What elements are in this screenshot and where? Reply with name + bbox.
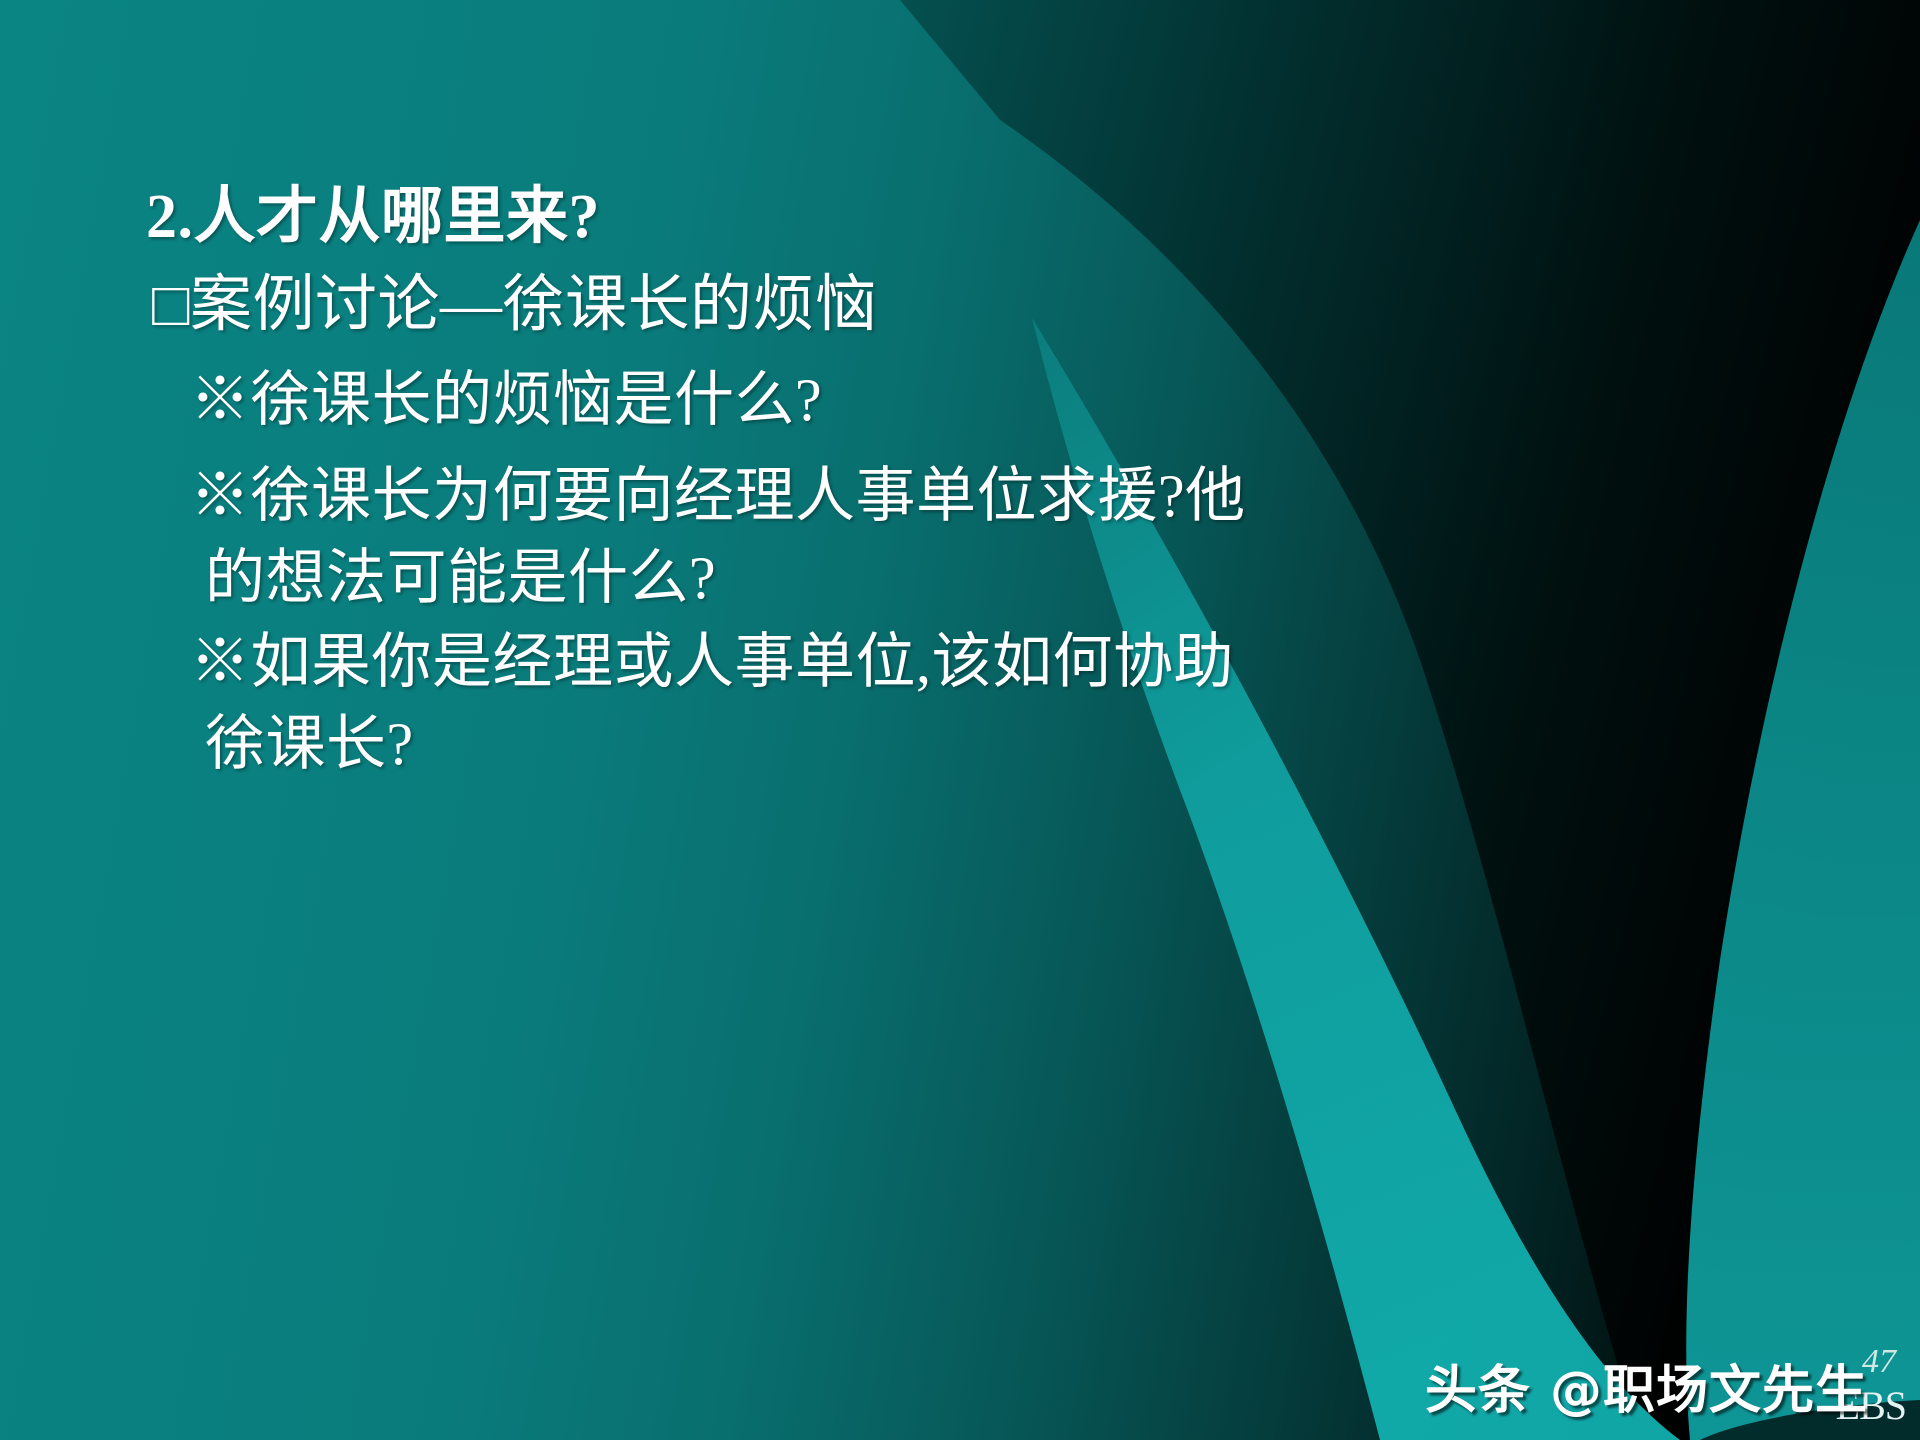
slide-title: 2.人才从哪里来? xyxy=(146,184,600,251)
bullet-line-2-continuation: 的想法可能是什么? xyxy=(205,546,716,611)
bullet-line-3: ※如果你是经理或人事单位,该如何协助 xyxy=(190,630,1234,695)
bullet-line-3-continuation: 徐课长? xyxy=(205,712,414,777)
toutiao-watermark: 头条 @职场文先生 xyxy=(1425,1348,1868,1423)
bullet-line-2: ※徐课长为何要向经理人事单位求援?他 xyxy=(190,464,1246,529)
slide-text-content: 2.人才从哪里来? □案例讨论—徐课长的烦恼 ※徐课长的烦恼是什么? ※徐课长为… xyxy=(0,0,1920,1440)
slide-subtitle: □案例讨论—徐课长的烦恼 xyxy=(152,272,877,339)
slide-canvas: 2.人才从哪里来? □案例讨论—徐课长的烦恼 ※徐课长的烦恼是什么? ※徐课长为… xyxy=(0,0,1920,1440)
bullet-line-1: ※徐课长的烦恼是什么? xyxy=(190,368,822,433)
